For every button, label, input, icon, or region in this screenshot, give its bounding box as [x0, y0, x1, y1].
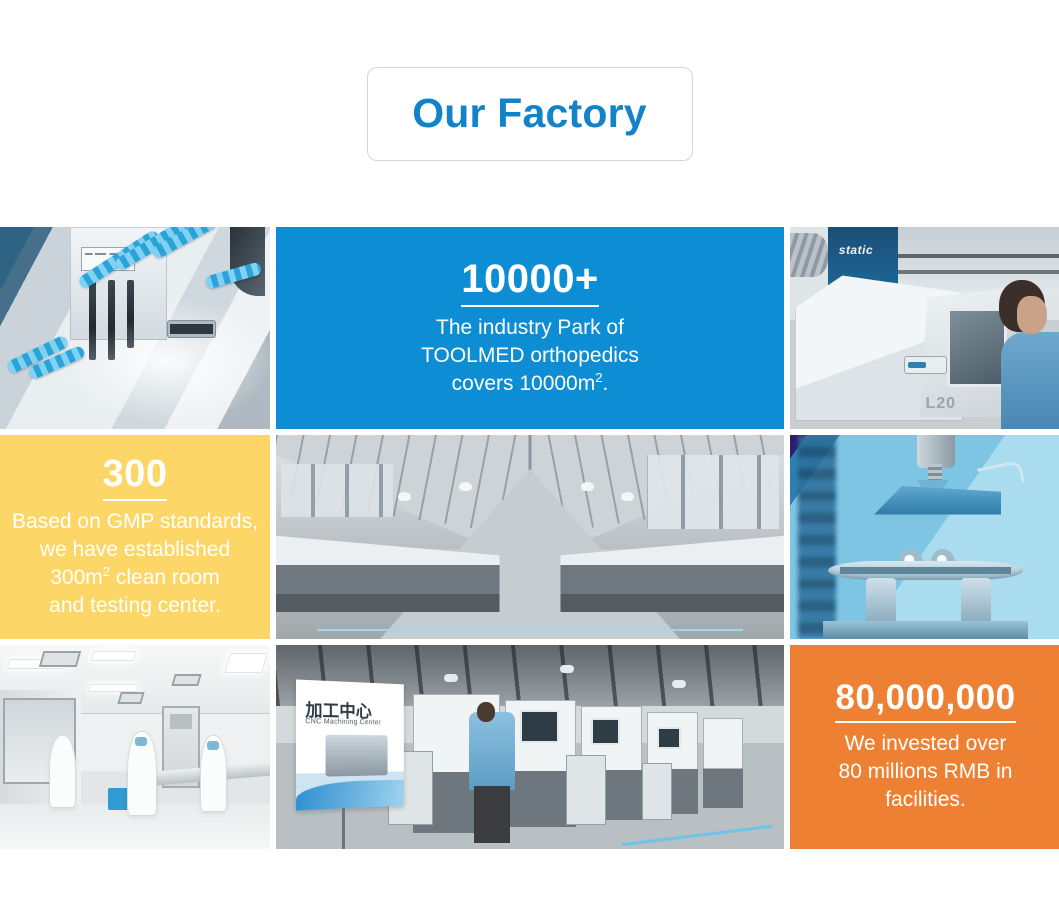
stat-card-area: 10000+ The industry Park of TOOLMED orth… — [276, 227, 784, 429]
background-rack — [798, 435, 836, 639]
coolant-tube — [230, 227, 265, 296]
stat-cleanroom-description: Based on GMP standards, we have establis… — [12, 508, 258, 621]
ceiling-vent — [117, 692, 145, 704]
page-header: Our Factory — [0, 0, 1059, 227]
stat-investment-line-3: facilities. — [839, 786, 1013, 814]
signboard-leg — [342, 808, 345, 849]
cleanroom-worker — [49, 735, 76, 808]
tool-cart — [642, 763, 672, 820]
stat-cleanroom-line-2: we have established — [12, 536, 258, 564]
specimen-wire — [977, 459, 1025, 491]
stat-investment-line-2: 80 millions RMB in — [839, 758, 1013, 786]
cnc-head-photo — [0, 227, 270, 429]
shop-lamp — [560, 665, 574, 673]
floor-marking — [622, 824, 774, 846]
lathe-model-label: L20 — [926, 395, 957, 413]
ceiling-light — [90, 651, 136, 661]
bone-plate-specimen — [828, 561, 1023, 579]
lathe-photo: static L20 — [790, 227, 1059, 429]
ceiling-light — [88, 684, 139, 692]
signboard-title-en: CNC Machining Center — [306, 718, 382, 726]
worker-mask — [135, 737, 147, 746]
stat-cleanroom-line-3: 300m2 clean room — [12, 564, 258, 592]
stat-cleanroom-line-3-sup: 2 — [103, 564, 110, 579]
ceiling-light — [224, 653, 268, 673]
stat-area-number: 10000+ — [461, 258, 599, 307]
stat-area-description: The industry Park of TOOLMED orthopedics… — [421, 314, 639, 398]
hall-window-left — [281, 464, 393, 517]
stat-area-line-3-post: . — [602, 372, 608, 395]
lathe-viewing-window — [947, 308, 1007, 387]
shop-worker-head — [477, 702, 495, 722]
shop-lamp — [444, 674, 458, 682]
valve-bank — [167, 320, 216, 338]
signboard-wave — [296, 779, 404, 811]
stat-investment-line-1: We invested over — [839, 730, 1013, 758]
ceiling-vent — [38, 651, 80, 667]
operator-face — [1017, 296, 1047, 334]
bend-test-photo — [790, 435, 1059, 639]
lathe-brand-label: static — [839, 243, 873, 257]
spindle — [89, 280, 96, 361]
worker-mask — [207, 741, 219, 750]
machine-hmi-screen — [520, 710, 560, 743]
stat-cleanroom-line-1: Based on GMP standards, — [12, 508, 258, 536]
stat-area-line-1: The industry Park of — [421, 314, 639, 342]
machining-center — [703, 718, 744, 808]
cleanroom-photo — [0, 645, 270, 849]
test-base — [823, 621, 1029, 639]
stat-area-line-3: covers 10000m2. — [421, 370, 639, 398]
shop-lamp — [672, 680, 686, 688]
ceiling-vent — [171, 674, 202, 686]
tool-cart — [566, 755, 607, 824]
stat-investment-description: We invested over 80 millions RMB in faci… — [839, 730, 1013, 814]
machine-hmi-screen — [657, 727, 681, 749]
stat-area-line-2: TOOLMED orthopedics — [421, 342, 639, 370]
lathe-badge — [904, 356, 947, 374]
signboard-illustration — [326, 735, 388, 776]
extraction-duct — [790, 233, 828, 277]
machine-hmi-screen — [591, 718, 620, 744]
stat-card-investment: 80,000,000 We invested over 80 millions … — [790, 645, 1059, 849]
page-title-box: Our Factory — [367, 67, 693, 161]
stat-cleanroom-line-3-pre: 300m — [50, 566, 103, 589]
factory-hall-photo — [276, 435, 784, 639]
factory-mosaic-grid: 10000+ The industry Park of TOOLMED orth… — [0, 227, 1059, 849]
spindle — [127, 280, 134, 349]
floor-marking — [317, 629, 744, 631]
stat-card-cleanroom: 300 Based on GMP standards, we have esta… — [0, 435, 270, 639]
stat-cleanroom-line-3-post: clean room — [110, 566, 220, 589]
stat-cleanroom-line-4: and testing center. — [12, 592, 258, 620]
stat-cleanroom-number: 300 — [103, 454, 168, 501]
shop-worker-body — [469, 712, 515, 790]
machining-center-signboard: 加工中心 CNC Machining Center — [296, 679, 404, 811]
machining-center-photo: 加工中心 CNC Machining Center — [276, 645, 784, 849]
stat-area-line-3-pre: covers 10000m — [452, 372, 596, 395]
page-title: Our Factory — [412, 93, 647, 134]
stat-investment-number: 80,000,000 — [835, 679, 1015, 723]
shop-worker-legs — [474, 786, 510, 843]
operator-body — [1001, 332, 1059, 429]
spindle — [108, 280, 115, 361]
